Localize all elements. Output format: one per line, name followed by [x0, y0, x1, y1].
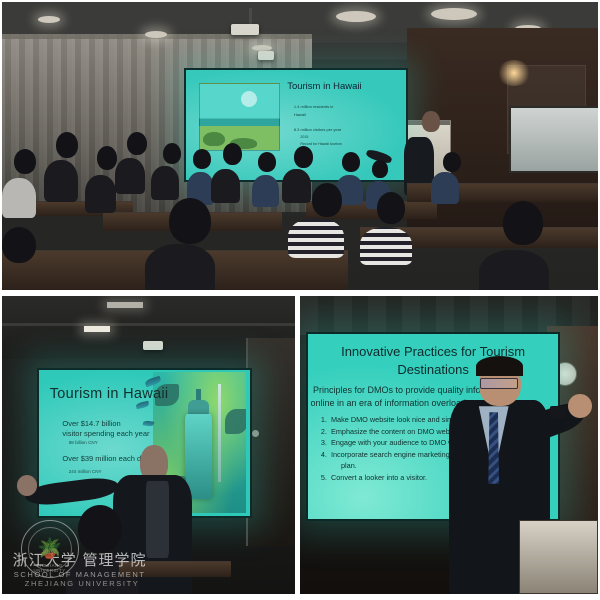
slide-bullet-1-sub: 98 billion CNY — [69, 440, 98, 445]
audience-head-foreground — [312, 183, 342, 217]
door-knob[interactable] — [252, 430, 259, 437]
slide-lead-line2: online in an era of information overload… — [310, 398, 468, 410]
list-item-number: 4. — [318, 450, 327, 459]
zju-seal-icon: 🪴 ZHEJIANG UNIVERSITY — [21, 520, 79, 578]
ceiling-beam — [2, 323, 295, 326]
audience-torso-foreground — [288, 218, 344, 258]
speaker-glasses-icon — [480, 378, 518, 390]
speaker-tie — [488, 412, 499, 484]
audience-torso-foreground — [145, 244, 215, 290]
audience-torso — [2, 178, 36, 218]
audience-head — [97, 146, 117, 170]
list-item-number — [318, 461, 327, 470]
panel-innovative-practices-slide-shot: Innovative Practices for Tourism Destina… — [300, 296, 598, 594]
audience-torso — [85, 175, 116, 213]
watermark-english-line2: ZHEJIANG UNIVERSITY — [25, 579, 175, 588]
panel-wide-audience-shot: Tourism in Hawaii 1.4 million residents … — [2, 2, 598, 290]
audience-torso — [252, 175, 279, 207]
audience-head — [127, 132, 147, 155]
audience-torso — [151, 166, 179, 200]
watermark: 🪴 ZHEJIANG UNIVERSITY 浙江大学 管理学院 SCHOOL O… — [11, 549, 175, 588]
audience-head — [56, 132, 78, 158]
panel-hawaii-statistics-slide-shot: Tourism in Hawaii Over $14.7 billion vis… — [2, 296, 295, 594]
speaker-hand — [17, 475, 38, 496]
door-right — [246, 338, 295, 547]
audience-head — [342, 152, 360, 172]
list-item-number: 3. — [318, 438, 327, 447]
audience-head — [443, 152, 461, 172]
speaker-hand — [568, 394, 592, 418]
audience-head-foreground — [78, 505, 122, 553]
audience-head-foreground — [2, 227, 36, 263]
zju-seal-text: ZHEJIANG UNIVERSITY — [22, 563, 78, 573]
tiki-pole — [218, 384, 221, 482]
list-item-text: Emphasize the content on DMO website. — [331, 427, 463, 436]
slide-bullet-2: Over $39 million each day — [62, 454, 149, 463]
audience-torso-foreground — [360, 227, 412, 265]
audience-head-foreground — [169, 198, 211, 244]
list-item-text: plan. — [341, 461, 357, 470]
audience-torso — [211, 169, 240, 203]
audience-torso — [282, 169, 311, 203]
audience-head — [14, 149, 36, 174]
audience-head — [193, 149, 211, 169]
presentation-clicker[interactable] — [550, 406, 565, 418]
ceiling-light — [107, 302, 143, 308]
audience-head-foreground — [503, 201, 543, 245]
speaker-shirt — [146, 481, 169, 558]
photo-collage: Tourism in Hawaii 1.4 million residents … — [0, 0, 600, 600]
ceiling-projector — [143, 341, 163, 350]
bullet-1-main: Over $14.7 billion — [62, 419, 120, 428]
list-item-text: Convert a looker into a visitor. — [331, 473, 427, 482]
audience-torso — [115, 158, 145, 194]
audience-head — [163, 143, 181, 164]
audience-head — [372, 160, 388, 178]
podium — [519, 520, 598, 594]
audience-head — [223, 143, 242, 165]
ceiling-light — [84, 326, 110, 332]
audience-head — [258, 152, 276, 172]
bullet-1-cont: visitor spending each year — [62, 429, 149, 438]
list-item-text: Make DMO website look nice and simple. — [331, 415, 465, 424]
speaker-head — [422, 111, 440, 132]
list-item-number: 2. — [318, 427, 327, 436]
slide-title: Tourism in Hawaii — [50, 386, 169, 402]
zju-seal-bird-icon: 🪴 — [37, 539, 62, 559]
audience-torso — [44, 160, 78, 202]
audience-head-foreground — [377, 192, 405, 224]
audience-head — [294, 146, 313, 168]
slide-bullet-1: Over $14.7 billion visitor spending each… — [62, 419, 149, 439]
audience-torso — [431, 172, 459, 204]
list-item-number: 5. — [318, 473, 327, 482]
slide-bullet-2-sub: 244 million CNY — [69, 469, 102, 474]
audience-torso-foreground — [479, 250, 549, 290]
list-item-number: 1. — [318, 415, 327, 424]
speaker-hair — [476, 356, 524, 377]
foliage-leaf — [225, 409, 245, 434]
